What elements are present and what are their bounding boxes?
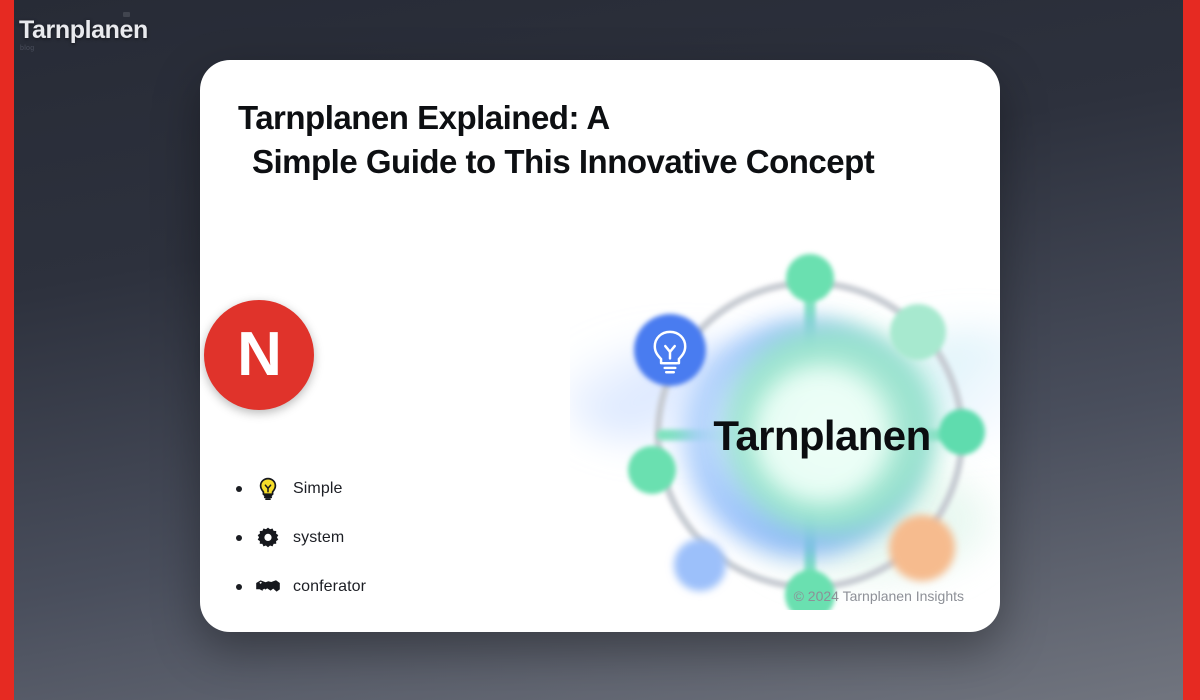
- list-item-label: system: [293, 529, 344, 547]
- bullet-dot: [236, 486, 242, 492]
- lightbulb-icon: [255, 476, 281, 502]
- headline-line-1: Tarnplanen Explained: A: [238, 99, 610, 136]
- site-watermark-sub: blog: [20, 45, 34, 52]
- site-watermark: Tarnplanen: [19, 16, 148, 45]
- list-item[interactable]: conferator: [236, 562, 486, 611]
- bullet-dot: [236, 584, 242, 590]
- concept-network-diagram: Tarnplanen: [570, 190, 1000, 610]
- node-lower-left[interactable]: [674, 539, 726, 591]
- article-card: Tarnplanen Explained: A Simple Guide to …: [200, 60, 1000, 632]
- headline-line-2: Simple Guide to This Innovative Concept: [238, 140, 958, 184]
- list-item-label: Simple: [293, 480, 343, 498]
- node-top[interactable]: [786, 254, 834, 302]
- brand-badge[interactable]: N: [204, 300, 314, 410]
- brand-badge-letter: N: [237, 324, 281, 386]
- list-item[interactable]: system: [236, 513, 486, 562]
- node-right[interactable]: [939, 409, 985, 455]
- page-title: Tarnplanen Explained: A Simple Guide to …: [238, 96, 958, 183]
- copyright-notice: © 2024 Tarnplanen Insights: [794, 588, 964, 604]
- list-item-label: conferator: [293, 578, 366, 596]
- hub-label: Tarnplanen: [713, 412, 930, 459]
- node-left[interactable]: [628, 446, 676, 494]
- right-red-bar: [1183, 0, 1200, 700]
- handshake-icon: [255, 574, 281, 600]
- node-upper-left[interactable]: [634, 314, 706, 386]
- watermark-dot-mark: [123, 12, 130, 17]
- left-red-bar: [0, 0, 14, 700]
- list-item[interactable]: Simple: [236, 464, 486, 513]
- node-lower-right[interactable]: [889, 515, 955, 581]
- network-diagram-svg: Tarnplanen: [570, 190, 1000, 610]
- node-upper-right[interactable]: [890, 304, 946, 360]
- screenshot-stage: Tarnplanen blog Tarnplanen Explained: A …: [0, 0, 1200, 700]
- gear-icon: [255, 525, 281, 551]
- bullet-dot: [236, 535, 242, 541]
- feature-bullet-list: Simple system: [236, 464, 486, 611]
